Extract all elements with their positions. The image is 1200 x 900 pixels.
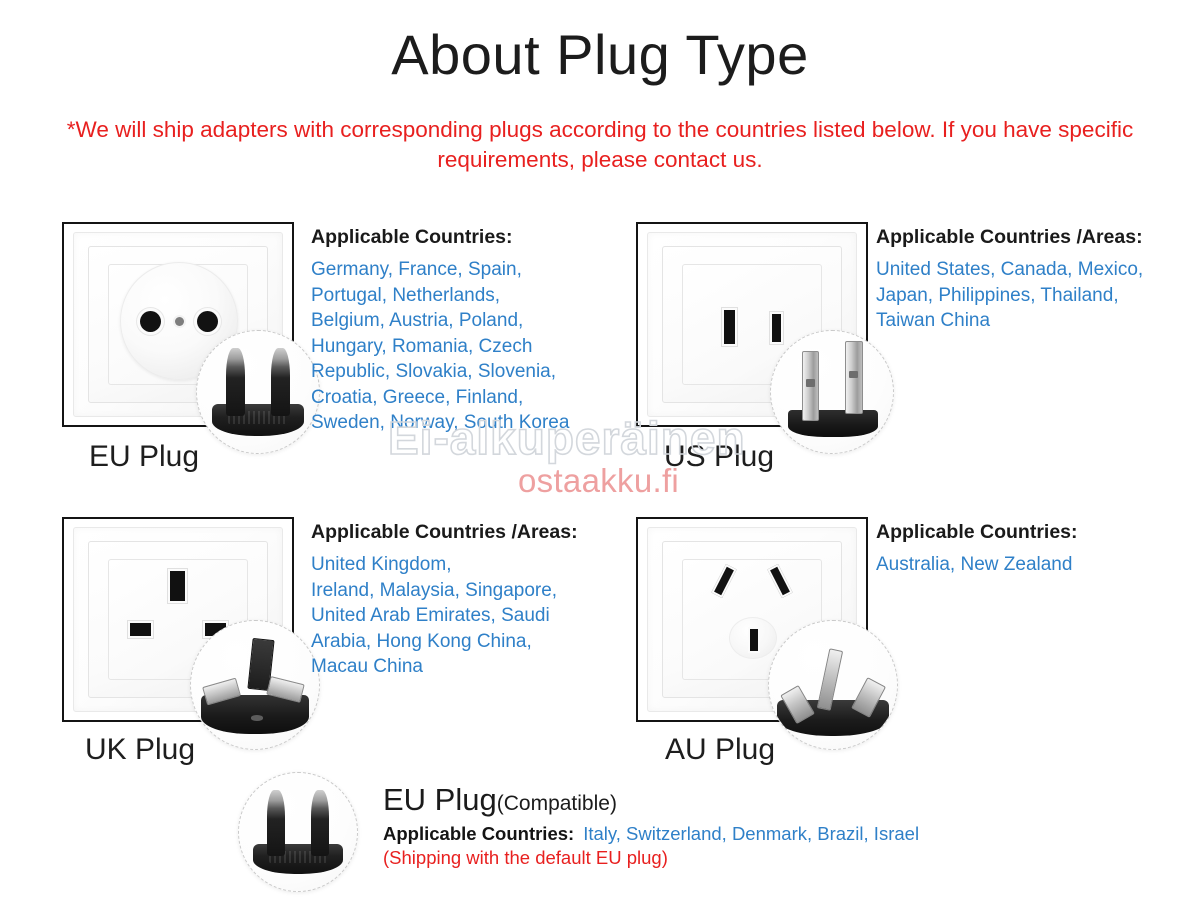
au-plug-label: AU Plug: [665, 733, 775, 767]
eu-socket-hole-left: [140, 311, 161, 332]
eu-compatible-plug-photo-inset: [238, 772, 358, 892]
eu-plug-photo-inset: [196, 330, 320, 454]
eu-info-block: Applicable Countries: Germany, France, S…: [311, 226, 601, 436]
us-plug-blade-right: [845, 341, 863, 414]
eu-compatible-shipping-note: (Shipping with the default EU plug): [383, 846, 668, 870]
eu-compatible-prong-right: [311, 790, 329, 856]
au-plug-drawing: [769, 621, 897, 749]
eu-plug-label: EU Plug: [89, 440, 199, 474]
eu-compatible-countries-row: Applicable Countries:Italy, Switzerland,…: [383, 822, 919, 846]
page-title: About Plug Type: [0, 24, 1200, 86]
eu-plug-prong-left: [226, 348, 244, 416]
watermark-site-text: ostaakku.fi: [518, 463, 679, 499]
eu-compatible-name: EU Plug: [383, 782, 497, 817]
au-applicable-heading: Applicable Countries:: [876, 521, 1176, 543]
eu-plug-prong-right: [271, 348, 289, 416]
eu-socket-hole-right: [197, 311, 218, 332]
eu-plug-drawing: [197, 331, 319, 453]
uk-applicable-heading: Applicable Countries /Areas:: [311, 521, 611, 543]
us-socket-slot-left: [722, 308, 737, 346]
eu-compatible-heading: Applicable Countries:: [383, 823, 574, 844]
au-country-list: Australia, New Zealand: [876, 552, 1176, 578]
uk-socket-live-slot: [128, 621, 153, 638]
uk-socket-earth-slot: [168, 569, 187, 603]
shipping-note: *We will ship adapters with correspondin…: [60, 115, 1140, 175]
uk-plug-photo-inset: [190, 620, 320, 750]
au-socket-slot-right: [767, 564, 792, 598]
us-plug-photo-inset: [770, 330, 894, 454]
us-plug-label: US Plug: [664, 440, 774, 474]
eu-earth-pin: [175, 317, 184, 326]
uk-country-list: United Kingdom, Ireland, Malaysia, Singa…: [311, 552, 611, 680]
au-socket-earth-slot: [748, 627, 760, 653]
au-socket-slot-left: [711, 564, 736, 598]
us-info-block: Applicable Countries /Areas: United Stat…: [876, 226, 1176, 334]
us-plug-blade-left: [802, 351, 820, 421]
eu-compatible-title: EU Plug(Compatible): [383, 783, 617, 821]
us-applicable-heading: Applicable Countries /Areas:: [876, 226, 1176, 248]
uk-plug-label: UK Plug: [85, 733, 195, 767]
eu-compatible-plug-drawing: [239, 773, 357, 891]
eu-compatible-prong-left: [267, 790, 285, 856]
uk-info-block: Applicable Countries /Areas: United King…: [311, 521, 611, 680]
au-info-block: Applicable Countries: Australia, New Zea…: [876, 521, 1176, 578]
us-plug-drawing: [771, 331, 893, 453]
eu-applicable-heading: Applicable Countries:: [311, 226, 601, 248]
eu-country-list: Germany, France, Spain, Portugal, Nether…: [311, 257, 601, 436]
eu-compatible-country-list: Italy, Switzerland, Denmark, Brazil, Isr…: [583, 823, 919, 844]
us-country-list: United States, Canada, Mexico, Japan, Ph…: [876, 257, 1176, 334]
eu-compatible-suffix: (Compatible): [497, 792, 617, 815]
uk-plug-drawing: [191, 621, 319, 749]
au-plug-photo-inset: [768, 620, 898, 750]
plug-type-infographic: About Plug Type *We will ship adapters w…: [0, 0, 1200, 900]
